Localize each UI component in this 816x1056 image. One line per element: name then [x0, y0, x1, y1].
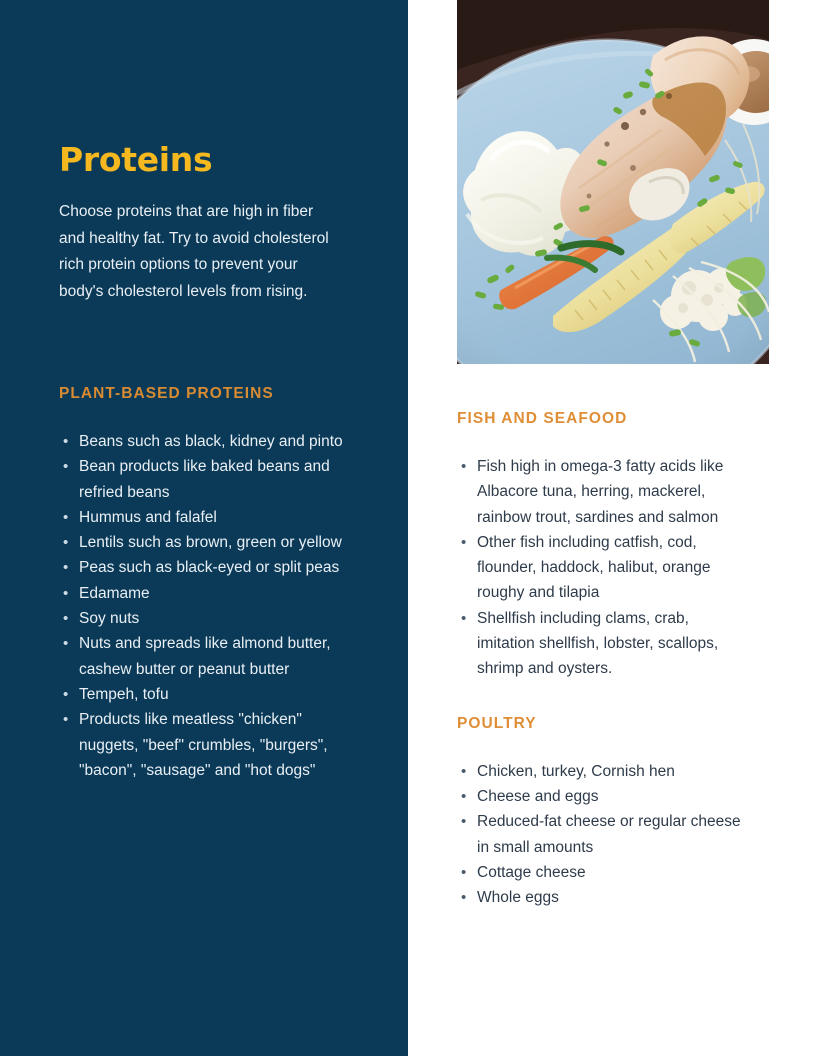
- food-photo-illustration: [457, 0, 769, 364]
- list-item: Bean products like baked beans and refri…: [59, 454, 351, 505]
- plant-based-list: Beans such as black, kidney and pinto Be…: [59, 403, 351, 783]
- list-item: Beans such as black, kidney and pinto: [59, 429, 351, 454]
- intro-paragraph: Choose proteins that are high in fiber a…: [59, 176, 341, 305]
- list-item: Hummus and falafel: [59, 505, 351, 530]
- list-item: Chicken, turkey, Cornish hen: [457, 759, 747, 784]
- list-item: Tempeh, tofu: [59, 682, 351, 707]
- list-item: Fish high in omega-3 fatty acids like Al…: [457, 454, 747, 530]
- poultry-list: Chicken, turkey, Cornish hen Cheese and …: [457, 733, 747, 911]
- section-heading-fish-and-seafood: FISH AND SEAFOOD: [457, 410, 757, 428]
- poultry-section: POULTRY Chicken, turkey, Cornish hen Che…: [457, 682, 757, 911]
- list-item: Whole eggs: [457, 885, 747, 910]
- list-item: Cottage cheese: [457, 860, 747, 885]
- plant-based-section: PLANT-BASED PROTEINS Beans such as black…: [59, 305, 359, 783]
- list-item: Lentils such as brown, green or yellow: [59, 530, 351, 555]
- list-item: Shellfish including clams, crab, imitati…: [457, 606, 747, 682]
- section-heading-poultry: POULTRY: [457, 715, 757, 733]
- section-heading-plant-based: PLANT-BASED PROTEINS: [59, 385, 359, 403]
- page: Proteins Choose proteins that are high i…: [0, 0, 816, 1056]
- list-item: Products like meatless "chicken" nuggets…: [59, 707, 351, 783]
- list-item: Nuts and spreads like almond butter, cas…: [59, 631, 351, 682]
- list-item: Edamame: [59, 581, 351, 606]
- fish-seafood-list: Fish high in omega-3 fatty acids like Al…: [457, 428, 747, 682]
- right-content: FISH AND SEAFOOD Fish high in omega-3 fa…: [457, 364, 757, 910]
- list-item: Peas such as black-eyed or split peas: [59, 555, 351, 580]
- list-item: Cheese and eggs: [457, 784, 747, 809]
- page-title: Proteins: [59, 0, 359, 176]
- left-navy-panel: Proteins Choose proteins that are high i…: [0, 0, 408, 1056]
- list-item: Reduced-fat cheese or regular cheese in …: [457, 809, 747, 860]
- fish-seafood-section: FISH AND SEAFOOD Fish high in omega-3 fa…: [457, 364, 757, 682]
- list-item: Soy nuts: [59, 606, 351, 631]
- left-content: Proteins Choose proteins that are high i…: [59, 0, 359, 783]
- list-item: Other fish including catfish, cod, floun…: [457, 530, 747, 606]
- right-white-panel: FISH AND SEAFOOD Fish high in omega-3 fa…: [408, 0, 816, 1056]
- food-photo: [457, 0, 769, 364]
